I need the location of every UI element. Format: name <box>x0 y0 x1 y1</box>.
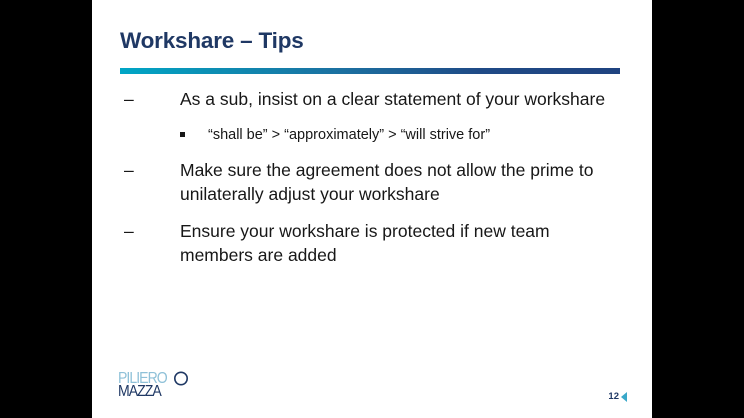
list-item-text: Make sure the agreement does not allow t… <box>180 160 593 204</box>
dash-bullet-icon: – <box>124 88 134 112</box>
dash-bullet-icon: – <box>124 220 134 244</box>
letterbox-left <box>0 0 92 418</box>
bullet-list: – As a sub, insist on a clear statement … <box>120 88 625 268</box>
piliero-mazza-logo: PILIERO MAZZA <box>118 368 238 404</box>
list-item-text: Ensure your workshare is protected if ne… <box>180 221 550 265</box>
list-item: – Ensure your workshare is protected if … <box>120 220 625 267</box>
triangle-left-icon[interactable] <box>621 392 627 402</box>
list-item-text: As a sub, insist on a clear statement of… <box>180 89 605 109</box>
page-number: 12 <box>608 392 619 402</box>
list-item: – As a sub, insist on a clear statement … <box>120 88 625 112</box>
dash-bullet-icon: – <box>124 159 134 183</box>
letterbox-right <box>652 0 744 418</box>
page-number-indicator: 12 <box>608 392 627 402</box>
page-title: Workshare – Tips <box>120 28 304 54</box>
list-item: – Make sure the agreement does not allow… <box>120 159 625 206</box>
list-item: “shall be” > “approximately” > “will str… <box>120 126 625 146</box>
svg-text:MAZZA: MAZZA <box>118 382 163 400</box>
sub-bullet-list: “shall be” > “approximately” > “will str… <box>120 126 625 146</box>
square-bullet-icon <box>180 132 185 137</box>
slide-canvas: Workshare – Tips – As a sub, insist on a… <box>92 0 652 418</box>
sub-list-item-text: “shall be” > “approximately” > “will str… <box>208 127 490 143</box>
slide-viewer: Workshare – Tips – As a sub, insist on a… <box>0 0 744 418</box>
title-divider-rule <box>120 68 620 74</box>
